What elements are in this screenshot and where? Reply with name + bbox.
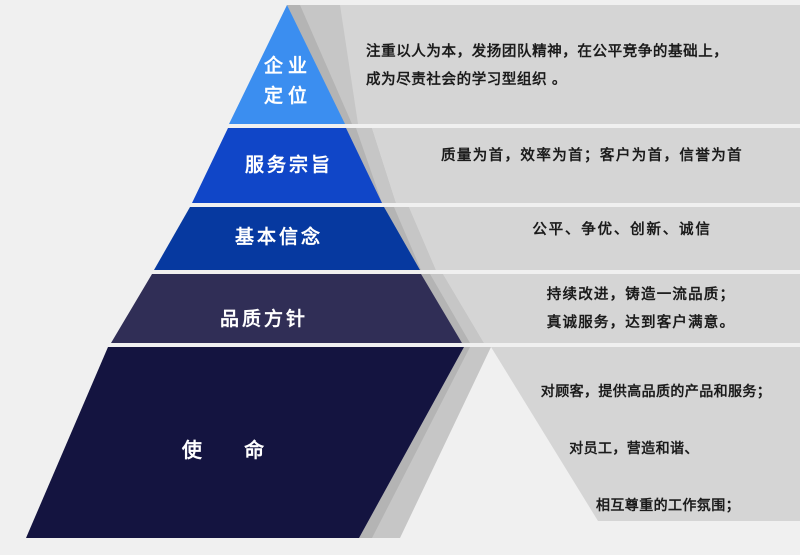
pyramid-tier-3[interactable] (154, 207, 420, 270)
pyramid-tier-2[interactable] (192, 128, 382, 203)
pyramid-tier-1[interactable] (229, 5, 345, 124)
pyramid-diagram-canvas: 企业 定位 服务宗旨 基本信念 品质方针 使 命 注重以人为本，发扬团队精神，在… (0, 0, 800, 555)
pyramid-tiers-layer (0, 0, 800, 555)
pyramid-tier-5[interactable] (26, 347, 464, 538)
pyramid-tier-4[interactable] (111, 274, 462, 343)
